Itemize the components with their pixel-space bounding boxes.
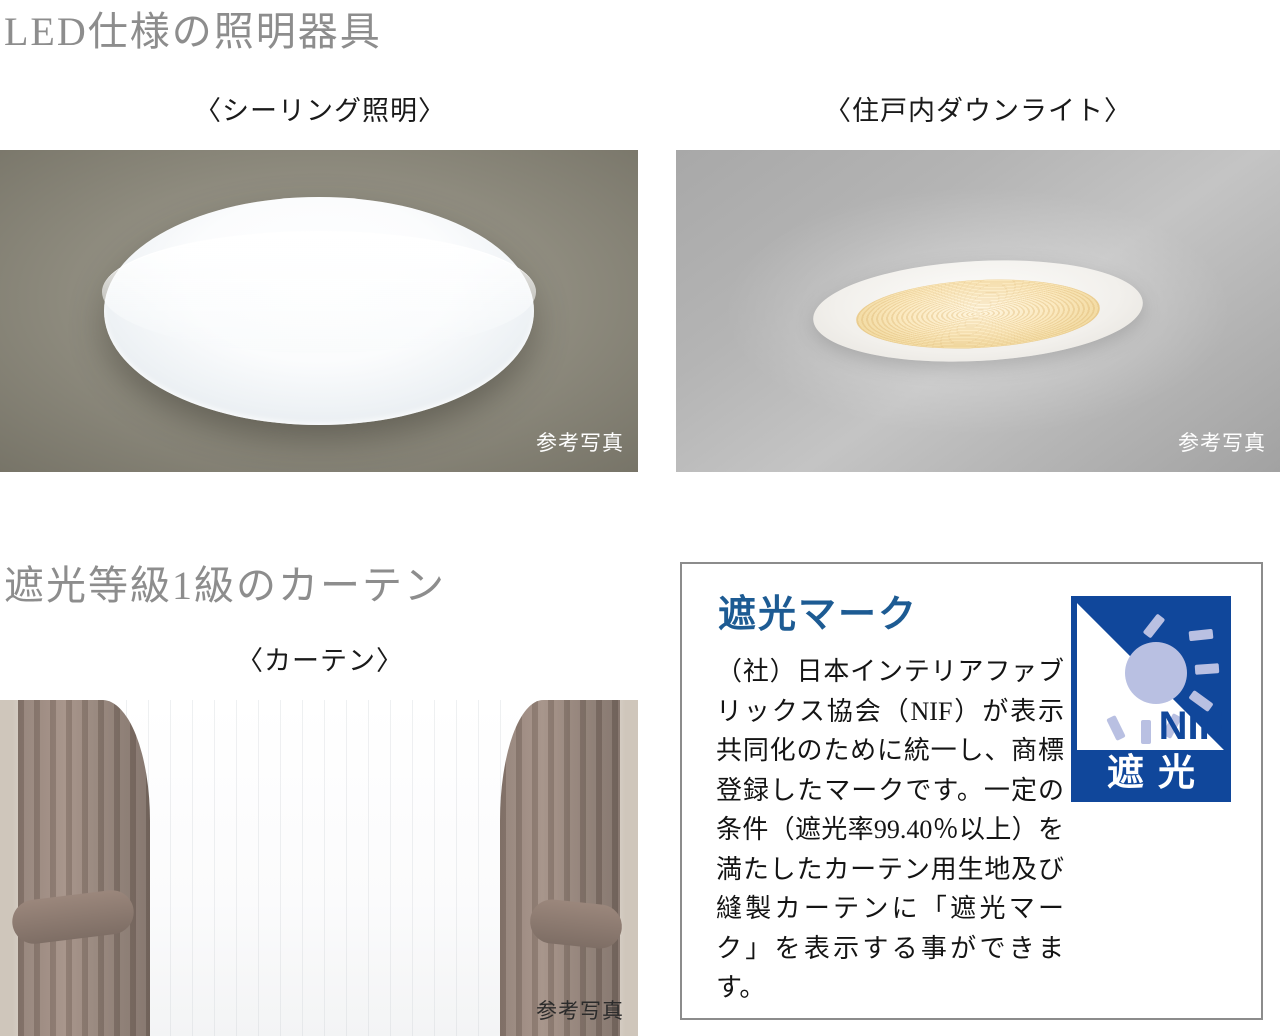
nif-brand-text: NIF [1159,706,1223,746]
ceiling-lamp-rim-icon [102,231,536,353]
blackout-mark-info-box: 遮光マーク （社）日本インテリアファブリックス協会（NIF）が表示共同化のために… [680,562,1263,1020]
curtain-photo-ref-note: 参考写真 [536,1001,624,1022]
downlight-caption: 〈住戸内ダウンライト〉 [676,98,1280,125]
blackout-mark-heading: 遮光マーク [718,596,918,634]
curtain-caption: 〈カーテン〉 [0,648,640,675]
brochure-page: LED仕様の照明器具 〈シーリング照明〉 〈住戸内ダウンライト〉 参考写真 参考… [0,0,1280,1036]
curtain-section-title: 遮光等級1級のカーテン [4,566,446,606]
downlight-photo: 参考写真 [676,150,1280,472]
nif-blackout-mark-logo: NIF 遮光 [1071,596,1231,802]
curtain-panel-right-icon [500,700,620,1036]
blackout-mark-description: （社）日本インテリアファブリックス協会（NIF）が表示共同化のために統一し、商標… [716,652,1064,1008]
sheer-curtain-icon [126,700,518,1036]
nif-blackout-label: 遮光 [1071,755,1231,792]
nif-sun-ray-icon [1195,663,1220,675]
ceiling-photo-ref-note: 参考写真 [536,433,624,454]
nif-sun-ray-icon [1141,720,1151,744]
curtain-photo: 参考写真 [0,700,638,1036]
led-section-title: LED仕様の照明器具 [4,12,382,52]
ceiling-light-caption: 〈シーリング照明〉 [0,98,640,125]
downlight-photo-ref-note: 参考写真 [1178,433,1266,454]
curtain-panel-left-icon [18,700,150,1036]
nif-sun-icon [1125,642,1187,704]
ceiling-light-photo: 参考写真 [0,150,638,472]
